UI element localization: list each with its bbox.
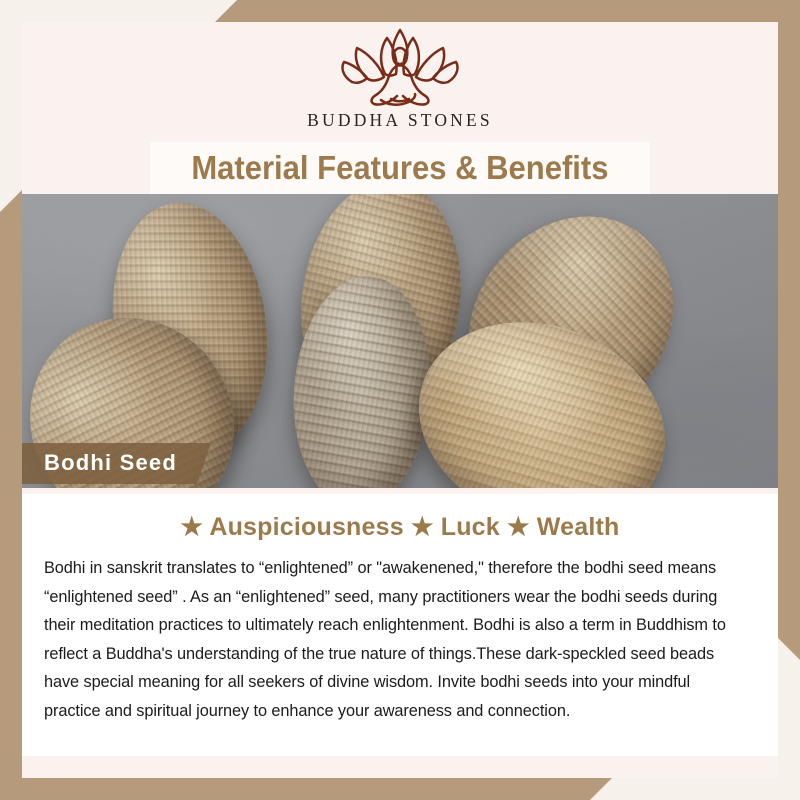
title-banner: Material Features & Benefits — [150, 142, 650, 194]
description-text: Bodhi in sanskrit translates to “enlight… — [44, 554, 745, 725]
page-title: Material Features & Benefits — [191, 149, 608, 187]
brand-header: BUDDHA STONES — [22, 22, 778, 142]
frame-band-right — [778, 0, 800, 660]
description-card: ★ Auspiciousness ★ Luck ★ Wealth Bodhi i… — [22, 494, 778, 756]
photo-caption-badge: Bodhi Seed — [22, 443, 211, 484]
lotus-meditation-icon — [335, 26, 465, 108]
infographic-page: BUDDHA STONES Material Features & Benefi… — [0, 0, 800, 800]
brand-name: BUDDHA STONES — [307, 110, 493, 131]
frame-band-top — [215, 0, 800, 22]
benefits-headline: ★ Auspiciousness ★ Luck ★ Wealth — [44, 512, 756, 542]
frame-band-bottom — [0, 778, 612, 800]
bodhi-seeds-photo: Bodhi Seed — [22, 194, 778, 488]
frame-band-left — [0, 190, 22, 800]
